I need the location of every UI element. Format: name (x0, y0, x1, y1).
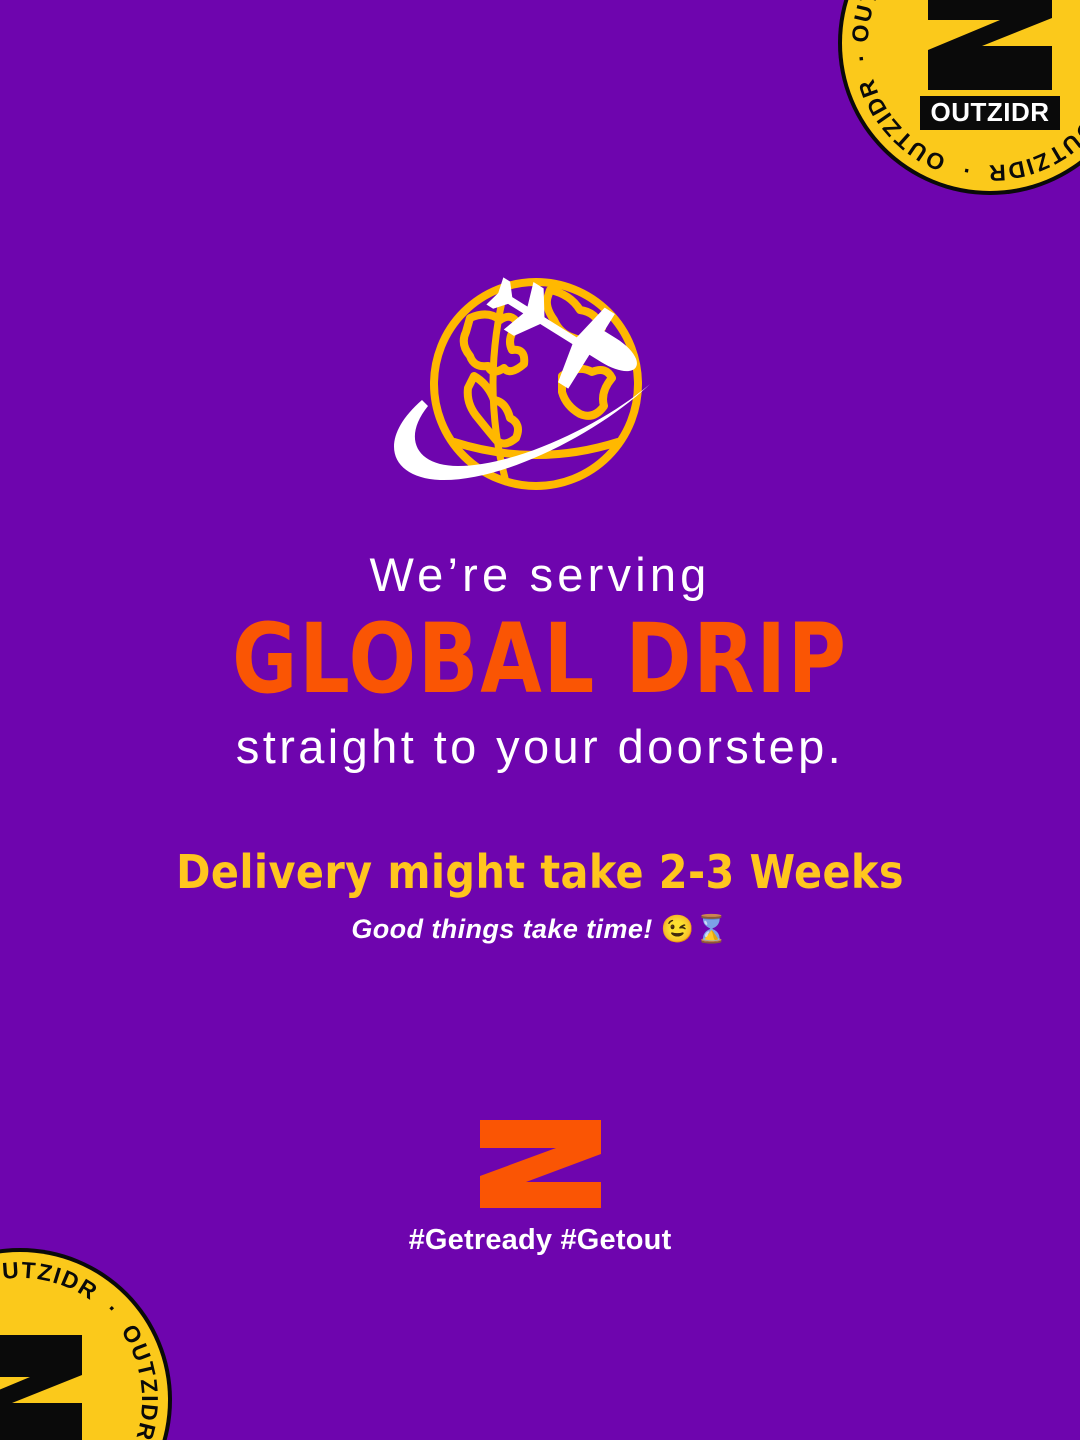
outzidr-z-logo (478, 1118, 603, 1210)
page-title: GLOBAL DRIP (43, 611, 1037, 709)
hashtags: #Getready #Getout (0, 1224, 1080, 1257)
outzidr-sticker-badge-bottom-left: OUTZIDR · OUTZIDR · OUTZIDR · OUTZIDR · … (0, 1245, 175, 1440)
doorstep-line: straight to your doorstep. (0, 720, 1080, 775)
headline-copy-block: We’re serving GLOBAL DRIP straight to yo… (0, 548, 1080, 945)
goodthings-text: Good things take time! (351, 914, 652, 944)
svg-text:OUTZIDR: OUTZIDR (930, 97, 1049, 127)
serving-line: We’re serving (0, 548, 1080, 603)
wink-hourglass-emoji: 😉⌛ (661, 914, 729, 944)
delivery-estimate: Delivery might take 2-3 Weeks (0, 845, 1080, 899)
goodthings-note: Good things take time! 😉⌛ (0, 913, 1080, 945)
footer-block: #Getready #Getout (0, 1118, 1080, 1257)
globe-with-airplane-icon (354, 272, 726, 508)
outzidr-sticker-badge-top-right: OUTZIDR · OUTZIDR · OUTZIDR · OUTZIDR · … (835, 0, 1080, 198)
poster-canvas: OUTZIDR · OUTZIDR · OUTZIDR · OUTZIDR · … (0, 0, 1080, 1440)
